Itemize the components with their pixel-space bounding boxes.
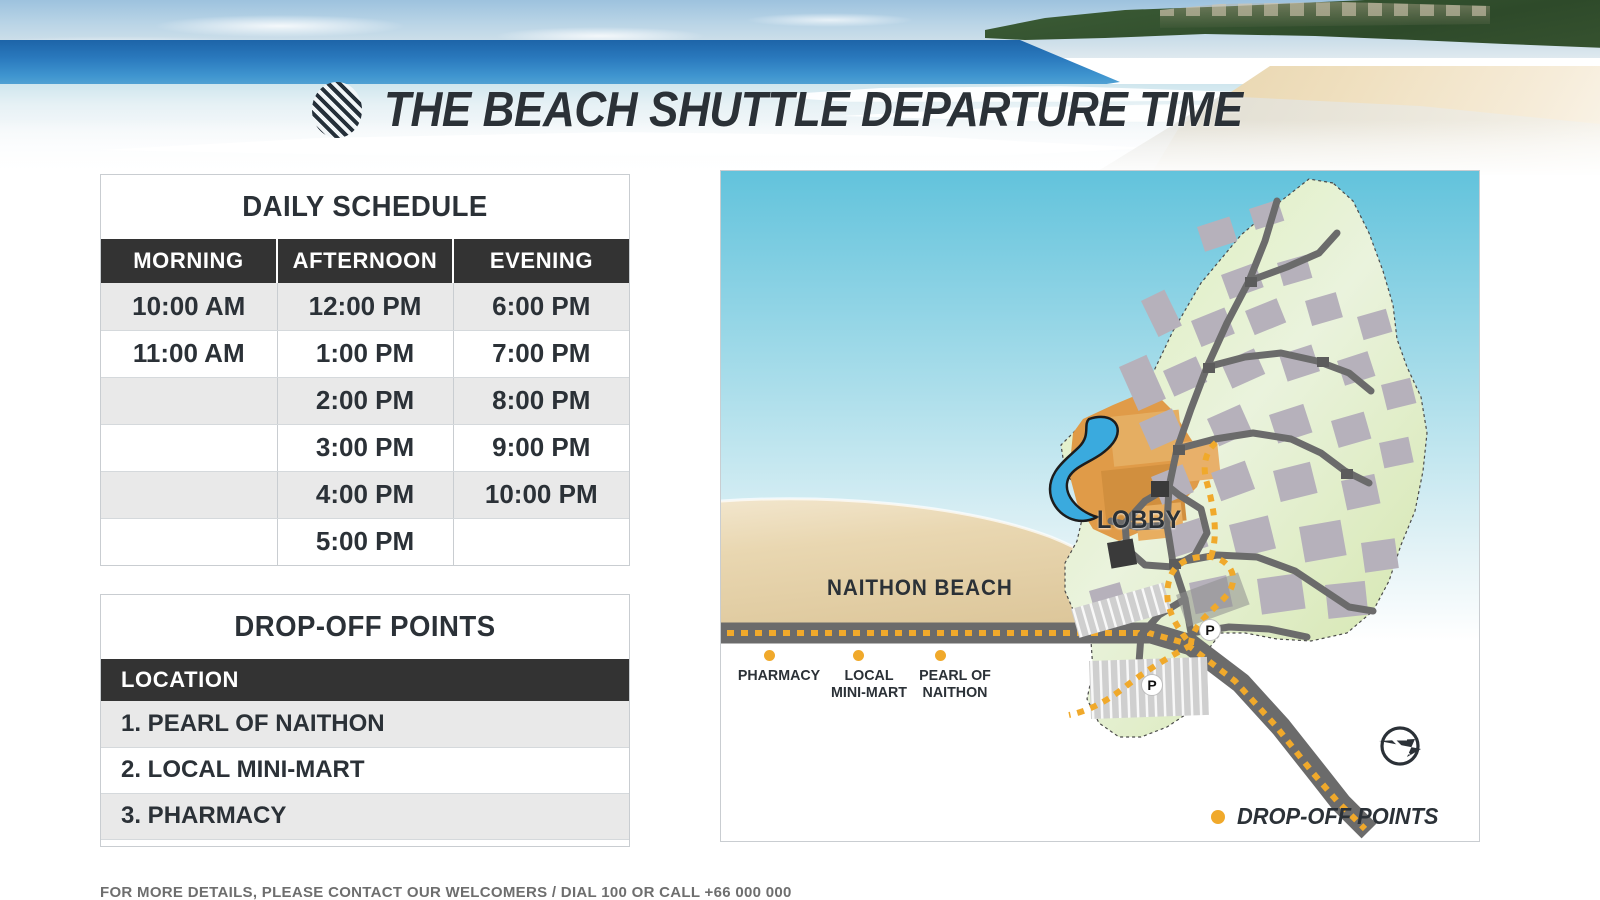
schedule-cell — [101, 471, 277, 518]
schedule-cell: 6:00 PM — [453, 283, 629, 330]
dropoff-points-panel: DROP-OFF POINTS LOCATION 1. PEARL OF NAI… — [100, 594, 630, 847]
schedule-cell — [101, 424, 277, 471]
schedule-cell: 5:00 PM — [277, 518, 453, 565]
dropoff-points-title: DROP-OFF POINTS — [114, 595, 616, 659]
schedule-col-afternoon: AFTERNOON — [277, 239, 453, 283]
schedule-cell — [101, 518, 277, 565]
table-row: 5:00 PM — [101, 518, 629, 565]
dropoff-marker-pharmacy-icon[interactable] — [764, 650, 775, 661]
schedule-cell: 12:00 PM — [277, 283, 453, 330]
schedule-cell: 9:00 PM — [453, 424, 629, 471]
dropoff-cell: 1. PEARL OF NAITHON — [101, 701, 629, 747]
schedule-header-row: MORNING AFTERNOON EVENING — [101, 239, 629, 283]
dropoff-marker-minimart-icon[interactable] — [853, 650, 864, 661]
map-label-beach: NAITHON BEACH — [827, 575, 1013, 601]
dropoff-col-location: LOCATION — [101, 659, 629, 701]
table-row: 2:00 PM 8:00 PM — [101, 377, 629, 424]
schedule-cell: 7:00 PM — [453, 330, 629, 377]
map-legend: DROP-OFF POINTS — [1211, 803, 1449, 830]
schedule-cell — [101, 377, 277, 424]
schedule-table: MORNING AFTERNOON EVENING 10:00 AM 12:00… — [101, 239, 629, 565]
map-stop-label-pearl: PEARL OF NAITHON — [908, 668, 1003, 702]
table-row: 3:00 PM 9:00 PM — [101, 424, 629, 471]
schedule-col-morning: MORNING — [101, 239, 277, 283]
table-row: 2. LOCAL MINI-MART — [101, 747, 629, 793]
table-row: 11:00 AM 1:00 PM 7:00 PM — [101, 330, 629, 377]
table-row: 4:00 PM 10:00 PM — [101, 471, 629, 518]
schedule-cell: 8:00 PM — [453, 377, 629, 424]
schedule-cell — [453, 518, 629, 565]
poster-page: THE BEACH SHUTTLE DEPARTURE TIME DAILY S… — [0, 0, 1600, 900]
schedule-cell: 1:00 PM — [277, 330, 453, 377]
orange-dot-icon — [1211, 810, 1225, 824]
table-row: 3. PHARMACY — [101, 793, 629, 839]
dropoff-header-row: LOCATION — [101, 659, 629, 701]
table-row: 10:00 AM 12:00 PM 6:00 PM — [101, 283, 629, 330]
resort-map-panel: LOBBY NAITHON BEACH PHARMACY LOCAL MINI-… — [720, 170, 1480, 842]
schedule-cell: 10:00 PM — [453, 471, 629, 518]
dropoff-marker-pearl-icon[interactable] — [935, 650, 946, 661]
table-row: 1. PEARL OF NAITHON — [101, 701, 629, 747]
page-title-text: THE BEACH SHUTTLE DEPARTURE TIME — [384, 82, 1243, 138]
map-stop-label-minimart: LOCAL MINI-MART — [820, 668, 919, 702]
schedule-col-evening: EVENING — [453, 239, 629, 283]
parking-marker-icon[interactable]: P — [1199, 619, 1221, 641]
schedule-cell: 2:00 PM — [277, 377, 453, 424]
schedule-cell: 4:00 PM — [277, 471, 453, 518]
page-title: THE BEACH SHUTTLE DEPARTURE TIME — [312, 82, 1338, 138]
map-stop-label-pharmacy: PHARMACY — [732, 668, 827, 685]
map-label-lobby: LOBBY — [1097, 506, 1182, 535]
daily-schedule-panel: DAILY SCHEDULE MORNING AFTERNOON EVENING… — [100, 174, 630, 566]
map-legend-label: DROP-OFF POINTS — [1237, 803, 1439, 830]
dropoff-cell: 3. PHARMACY — [101, 793, 629, 839]
schedule-cell: 10:00 AM — [101, 283, 277, 330]
dropoff-cell: 2. LOCAL MINI-MART — [101, 747, 629, 793]
parking-marker-icon[interactable]: P — [1141, 674, 1163, 696]
daily-schedule-title: DAILY SCHEDULE — [114, 175, 616, 239]
schedule-cell: 3:00 PM — [277, 424, 453, 471]
footer-note: FOR MORE DETAILS, PLEASE CONTACT OUR WEL… — [100, 884, 1100, 900]
dropoff-table: LOCATION 1. PEARL OF NAITHON 2. LOCAL MI… — [101, 659, 629, 840]
schedule-cell: 11:00 AM — [101, 330, 277, 377]
striped-circle-logo-icon — [312, 82, 362, 138]
